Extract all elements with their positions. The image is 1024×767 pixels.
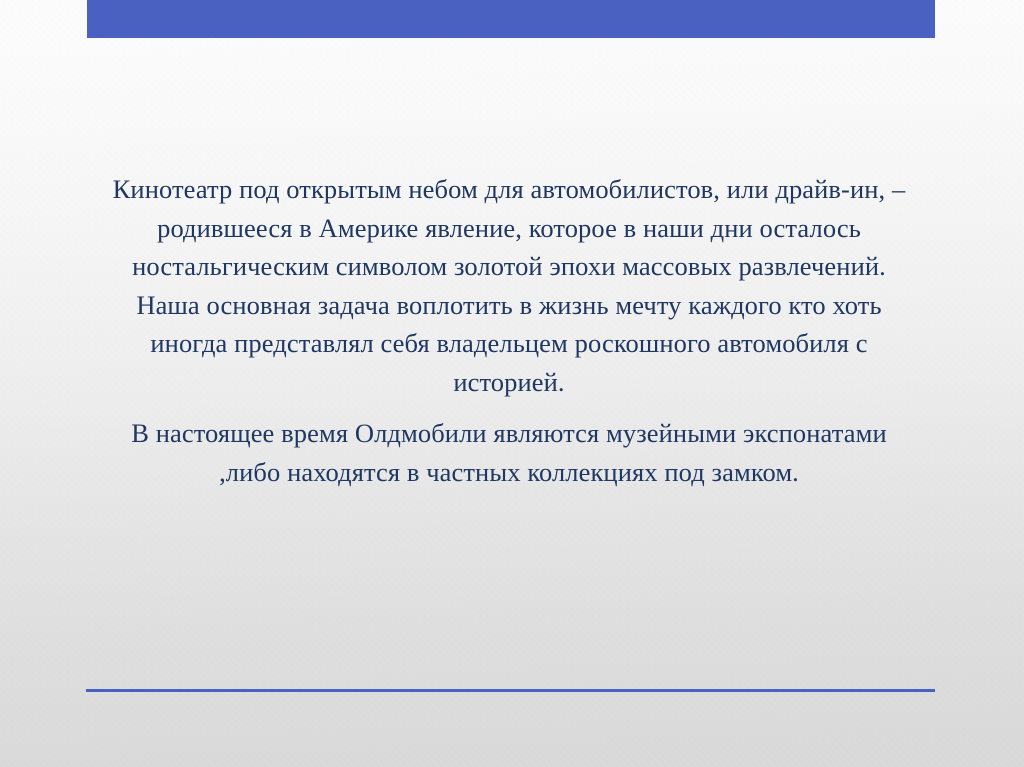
body-paragraph-1: Кинотеатр под открытым небом для автомоб… [104, 170, 914, 401]
bottom-accent-rule [86, 689, 935, 692]
slide-canvas: Кинотеатр под открытым небом для автомоб… [0, 0, 1024, 767]
top-accent-band [87, 0, 935, 38]
body-paragraph-2: В настоящее время Олдмобили являются муз… [104, 414, 914, 491]
slide-body-text: Кинотеатр под открытым небом для автомоб… [104, 170, 914, 491]
